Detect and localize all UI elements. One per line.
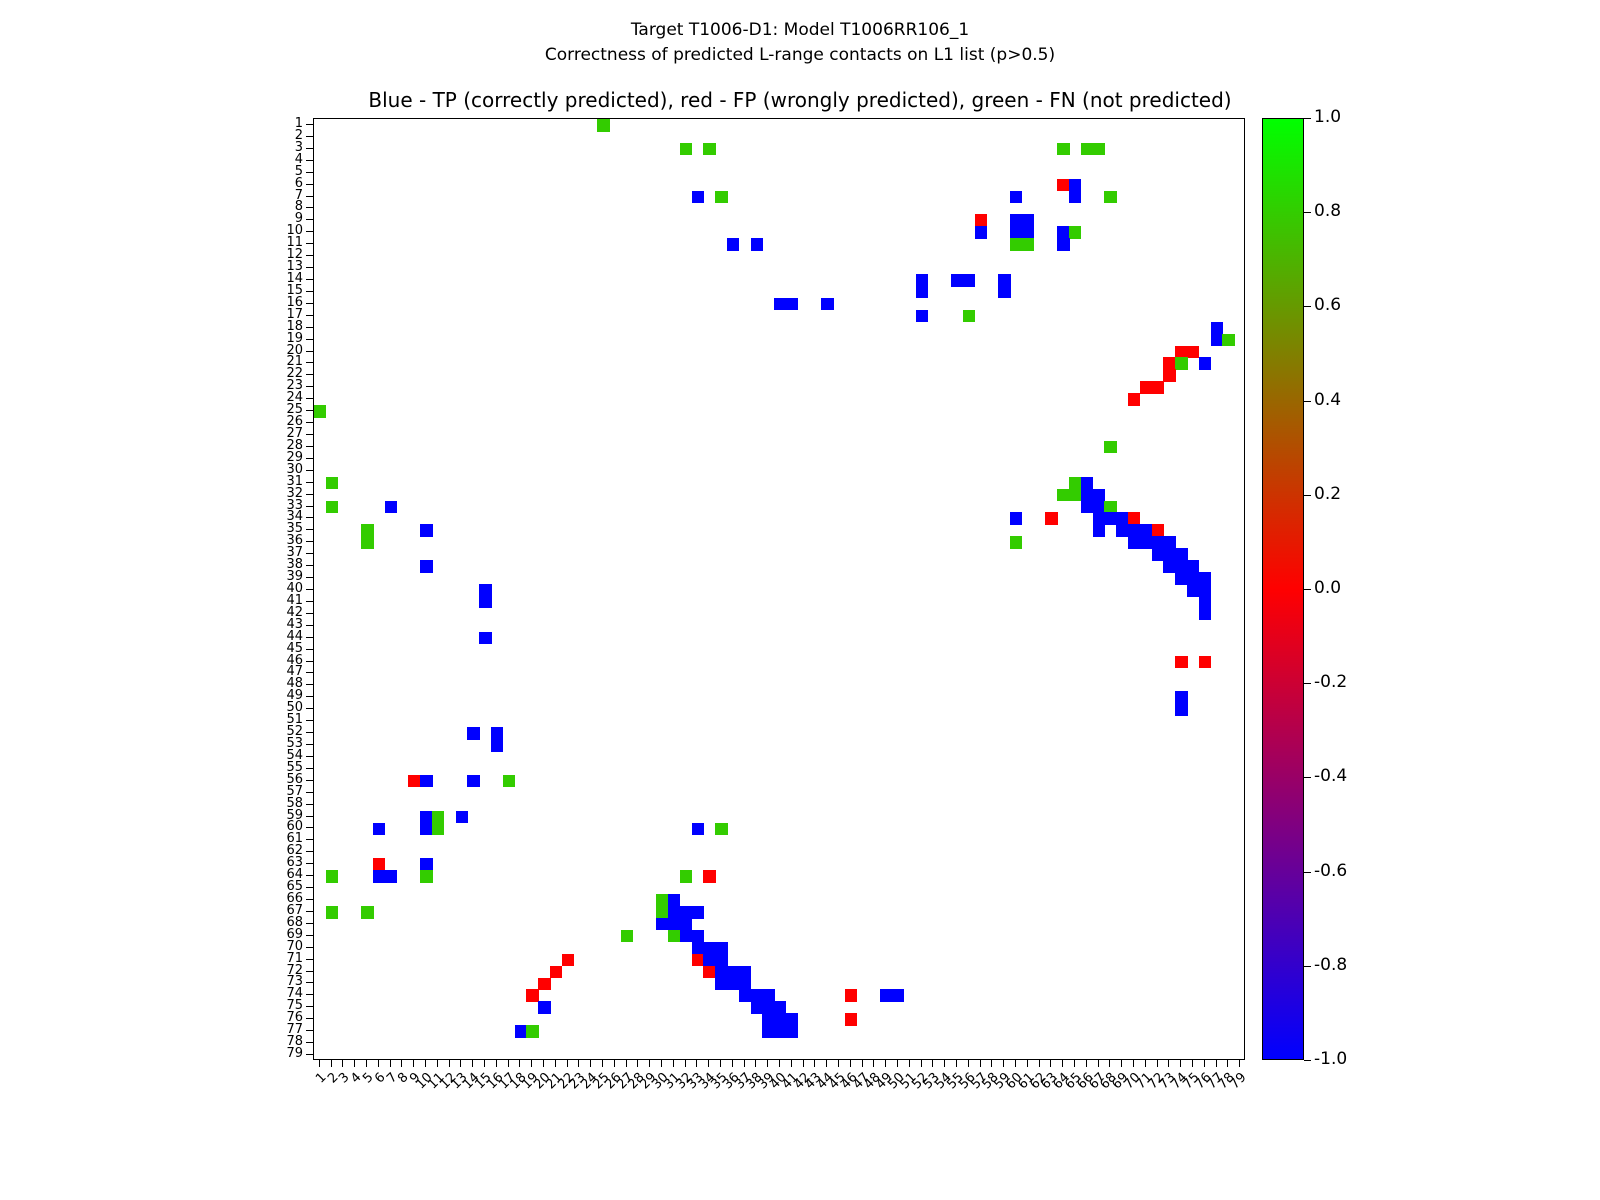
heatmap-cell <box>1152 536 1164 549</box>
heatmap-cell <box>420 811 432 824</box>
x-axis-tick <box>449 1060 450 1067</box>
heatmap-cell <box>597 119 609 132</box>
heatmap-cell <box>1093 524 1105 537</box>
y-axis-tick <box>306 315 313 316</box>
y-axis-tick <box>306 994 313 995</box>
heatmap-cell <box>762 989 774 1002</box>
heatmap-cell <box>420 524 432 537</box>
colorbar-tick-label: -0.2 <box>1314 672 1347 692</box>
heatmap-cell <box>1022 214 1034 227</box>
heatmap-cell <box>361 524 373 537</box>
heatmap-cell <box>1093 143 1105 156</box>
heatmap-cell <box>1163 560 1175 573</box>
heatmap-cell <box>727 978 739 991</box>
colorbar-tick <box>1304 118 1311 119</box>
heatmap-cell <box>1128 536 1140 549</box>
y-axis-tick <box>306 374 313 375</box>
y-axis-tick <box>306 684 313 685</box>
heatmap-cell <box>1187 584 1199 597</box>
colorbar-minor-ticks <box>1246 118 1256 1060</box>
y-axis-tick <box>306 982 313 983</box>
heatmap-cell <box>1211 334 1223 347</box>
heatmap-cell <box>408 775 420 788</box>
y-axis-tick <box>306 303 313 304</box>
heatmap-cell <box>1116 512 1128 525</box>
heatmap-cell <box>739 966 751 979</box>
colorbar-tick <box>1304 777 1311 778</box>
heatmap-cell <box>491 739 503 752</box>
y-axis-tick <box>306 327 313 328</box>
x-axis-tick <box>779 1060 780 1067</box>
heatmap-cell <box>692 906 704 919</box>
x-axis-tick <box>673 1060 674 1067</box>
heatmap-cell <box>432 811 444 824</box>
heatmap-cell <box>1199 608 1211 621</box>
colorbar-tick-label: 0.4 <box>1314 390 1341 410</box>
heatmap-cell <box>550 966 562 979</box>
x-axis-tick <box>1003 1060 1004 1067</box>
x-axis-tick <box>1204 1060 1205 1067</box>
y-axis-tick <box>306 911 313 912</box>
y-axis-tick <box>306 291 313 292</box>
y-axis-tick <box>306 362 313 363</box>
colorbar-tick <box>1304 212 1311 213</box>
y-axis-tick <box>306 1018 313 1019</box>
y-axis-tick <box>306 720 313 721</box>
x-axis-tick <box>1168 1060 1169 1067</box>
heatmap-cell <box>774 1025 786 1038</box>
y-axis-tick <box>306 756 313 757</box>
heatmap-cell <box>1010 226 1022 239</box>
y-axis-tick <box>306 649 313 650</box>
y-axis-tick <box>306 899 313 900</box>
heatmap-cell <box>1175 691 1187 704</box>
x-axis-tick <box>1216 1060 1217 1067</box>
heatmap-cell <box>998 274 1010 287</box>
x-axis-tick <box>767 1060 768 1067</box>
y-axis-tick <box>306 816 313 817</box>
heatmap-cell <box>373 858 385 871</box>
heatmap-cell <box>751 238 763 251</box>
y-axis-tick <box>306 255 313 256</box>
heatmap-cell <box>1116 524 1128 537</box>
x-axis-tick <box>732 1060 733 1067</box>
heatmap-cell <box>880 989 892 1002</box>
heatmap-cell <box>420 858 432 871</box>
heatmap-cell <box>373 823 385 836</box>
y-axis-tick <box>306 279 313 280</box>
heatmap-cell <box>1199 596 1211 609</box>
heatmap-cell <box>703 143 715 156</box>
heatmap-cell <box>373 870 385 883</box>
heatmap-cell <box>1152 524 1164 537</box>
y-axis-tick <box>306 565 313 566</box>
heatmap-cell <box>668 906 680 919</box>
x-axis-tick <box>814 1060 815 1067</box>
x-axis-tick <box>1086 1060 1087 1067</box>
heatmap-cell <box>668 894 680 907</box>
heatmap-cell <box>703 870 715 883</box>
heatmap-cell <box>1010 238 1022 251</box>
y-axis-tick <box>306 136 313 137</box>
y-axis-tick <box>306 494 313 495</box>
y-axis-tick <box>306 959 313 960</box>
heatmap-cell <box>1022 226 1034 239</box>
x-axis-tick <box>1180 1060 1181 1067</box>
x-axis-tick <box>1133 1060 1134 1067</box>
colorbar-tick <box>1304 966 1311 967</box>
heatmap-cell <box>503 775 515 788</box>
heatmap-cell <box>692 191 704 204</box>
x-axis-tick <box>342 1060 343 1067</box>
heatmap-cell <box>1175 560 1187 573</box>
heatmap-cell <box>751 1001 763 1014</box>
heatmap-cell <box>786 298 798 311</box>
heatmap-cell <box>1152 381 1164 394</box>
y-axis-tick <box>306 470 313 471</box>
heatmap-cell <box>1057 179 1069 192</box>
heatmap-cell <box>1187 346 1199 359</box>
colorbar-tick <box>1304 683 1311 684</box>
heatmap-cell <box>420 775 432 788</box>
x-axis-tick <box>1039 1060 1040 1067</box>
y-axis-tick <box>306 672 313 673</box>
heatmap-cell <box>1069 191 1081 204</box>
heatmap-cell <box>739 978 751 991</box>
colorbar-tick <box>1304 495 1311 496</box>
y-axis-tick <box>306 696 313 697</box>
heatmap-cell <box>1069 179 1081 192</box>
heatmap-cell <box>1128 524 1140 537</box>
contact-map-plot-area <box>313 118 1245 1060</box>
y-axis-tick <box>306 637 313 638</box>
x-axis-tick <box>413 1060 414 1067</box>
heatmap-cell <box>692 823 704 836</box>
y-axis-tick <box>306 1054 313 1055</box>
x-axis-tick <box>1074 1060 1075 1067</box>
heatmap-cell <box>314 405 326 418</box>
y-axis-tick <box>306 923 313 924</box>
heatmap-cell <box>1104 512 1116 525</box>
y-axis-tick <box>306 148 313 149</box>
x-axis-tick <box>602 1060 603 1067</box>
x-axis-tick <box>897 1060 898 1067</box>
heatmap-cell <box>1081 143 1093 156</box>
heatmap-cell <box>326 870 338 883</box>
heatmap-cell <box>1152 548 1164 561</box>
heatmap-cell <box>680 918 692 931</box>
colorbar-tick <box>1304 306 1311 307</box>
heatmap-cell <box>621 930 633 943</box>
heatmap-cell <box>326 501 338 514</box>
colorbar-tick-label: -1.0 <box>1314 1049 1347 1069</box>
heatmap-cell <box>1128 512 1140 525</box>
heatmap-cell <box>1093 489 1105 502</box>
heatmap-cell <box>420 870 432 883</box>
x-axis-tick <box>390 1060 391 1067</box>
y-axis-tick <box>306 851 313 852</box>
x-axis-tick <box>578 1060 579 1067</box>
colorbar-tick-label: -0.8 <box>1314 955 1347 975</box>
x-axis-tick <box>354 1060 355 1067</box>
heatmap-cell <box>479 596 491 609</box>
heatmap-cell <box>892 989 904 1002</box>
y-axis-tick <box>306 780 313 781</box>
heatmap-cell <box>963 274 975 287</box>
x-axis-tick <box>850 1060 851 1067</box>
heatmap-cell <box>361 906 373 919</box>
contact-map-figure: Target T1006-D1: Model T1006RR106_1 Corr… <box>0 0 1600 1200</box>
heatmap-cell <box>703 954 715 967</box>
heatmap-cell <box>821 298 833 311</box>
heatmap-cell <box>1199 656 1211 669</box>
x-axis-tick <box>637 1060 638 1067</box>
y-axis-tick <box>306 863 313 864</box>
colorbar-tick <box>1304 1060 1311 1061</box>
heatmap-cell <box>715 191 727 204</box>
heatmap-cell <box>1010 191 1022 204</box>
heatmap-cell <box>1022 238 1034 251</box>
figure-title-line-1: Target T1006-D1: Model T1006RR106_1 <box>0 18 1600 43</box>
heatmap-cell <box>1175 572 1187 585</box>
y-axis-tick <box>306 589 313 590</box>
heatmap-cell <box>975 214 987 227</box>
x-axis-tick <box>401 1060 402 1067</box>
x-axis-tick <box>755 1060 756 1067</box>
heatmap-cell <box>467 727 479 740</box>
colorbar-tick <box>1304 872 1311 873</box>
heatmap-cell <box>975 226 987 239</box>
x-axis-tick <box>909 1060 910 1067</box>
heatmap-cell <box>845 989 857 1002</box>
x-axis-tick <box>1109 1060 1110 1067</box>
x-axis-tick <box>720 1060 721 1067</box>
x-axis-tick <box>980 1060 981 1067</box>
x-axis-tick <box>873 1060 874 1067</box>
heatmap-cell <box>762 1013 774 1026</box>
heatmap-cell <box>1069 226 1081 239</box>
heatmap-cell <box>1081 489 1093 502</box>
heatmap-cell <box>715 954 727 967</box>
x-axis-tick <box>838 1060 839 1067</box>
y-axis-tick <box>306 172 313 173</box>
heatmap-cell <box>1187 560 1199 573</box>
y-axis-tick <box>306 1042 313 1043</box>
y-axis-tick <box>306 1030 313 1031</box>
heatmap-cell <box>715 966 727 979</box>
figure-title-block: Target T1006-D1: Model T1006RR106_1 Corr… <box>0 18 1600 68</box>
x-axis-tick <box>519 1060 520 1067</box>
y-axis-tick <box>306 827 313 828</box>
heatmap-cell <box>420 823 432 836</box>
colorbar-tick-label: -0.4 <box>1314 766 1347 786</box>
y-axis-tick <box>306 243 313 244</box>
x-axis-tick <box>531 1060 532 1067</box>
heatmap-cell <box>1175 357 1187 370</box>
x-axis-tick <box>472 1060 473 1067</box>
heatmap-cell <box>1175 346 1187 359</box>
y-axis-tick <box>306 875 313 876</box>
heatmap-cell <box>1199 357 1211 370</box>
y-axis-tick <box>306 744 313 745</box>
x-axis-tick <box>366 1060 367 1067</box>
y-axis-tick <box>306 517 313 518</box>
heatmap-cell <box>680 143 692 156</box>
heatmap-cell <box>692 930 704 943</box>
x-axis-tick <box>437 1060 438 1067</box>
y-axis-tick <box>306 434 313 435</box>
x-axis-tick <box>1050 1060 1051 1067</box>
y-axis-tick <box>306 184 313 185</box>
x-axis-tick <box>885 1060 886 1067</box>
colorbar-tick-label: -0.6 <box>1314 861 1347 881</box>
heatmap-cell <box>467 775 479 788</box>
heatmap-cell <box>326 906 338 919</box>
heatmap-cell <box>1057 226 1069 239</box>
x-axis-tick <box>1227 1060 1228 1067</box>
heatmap-cell <box>1140 524 1152 537</box>
heatmap-cell <box>774 1013 786 1026</box>
x-axis-tick <box>1239 1060 1240 1067</box>
heatmap-cell <box>1187 572 1199 585</box>
x-axis-tick <box>567 1060 568 1067</box>
heatmap-cell <box>715 978 727 991</box>
x-axis-tick <box>460 1060 461 1067</box>
x-axis-tick <box>1098 1060 1099 1067</box>
heatmap-cell <box>739 989 751 1002</box>
x-axis-tick <box>555 1060 556 1067</box>
heatmap-cell <box>715 823 727 836</box>
heatmap-cell <box>1163 536 1175 549</box>
colorbar-tick-label: 0.2 <box>1314 484 1341 504</box>
y-axis-tick <box>306 196 313 197</box>
y-axis-tick <box>306 1006 313 1007</box>
y-axis-tick <box>306 398 313 399</box>
x-axis-tick <box>378 1060 379 1067</box>
heatmap-cell <box>491 727 503 740</box>
y-axis-tick <box>306 124 313 125</box>
x-axis-tick <box>614 1060 615 1067</box>
x-axis-tick <box>708 1060 709 1067</box>
heatmap-cell <box>515 1025 527 1038</box>
x-axis-tick <box>543 1060 544 1067</box>
heatmap-cell-layer <box>314 119 1244 1059</box>
colorbar <box>1262 118 1304 1060</box>
heatmap-cell <box>1163 357 1175 370</box>
x-axis-tick <box>956 1060 957 1067</box>
y-axis-tick <box>306 553 313 554</box>
heatmap-cell <box>998 286 1010 299</box>
x-axis-tick <box>1192 1060 1193 1067</box>
heatmap-cell <box>538 978 550 991</box>
x-axis-tick <box>1121 1060 1122 1067</box>
x-axis-tick <box>944 1060 945 1067</box>
y-axis-tick <box>306 267 313 268</box>
heatmap-cell <box>963 310 975 323</box>
x-axis-tick <box>1145 1060 1146 1067</box>
y-axis-tick <box>306 577 313 578</box>
heatmap-cell <box>361 536 373 549</box>
heatmap-cell <box>692 954 704 967</box>
x-axis-tick <box>319 1060 320 1067</box>
y-axis-tick <box>306 887 313 888</box>
heatmap-cell <box>692 942 704 955</box>
heatmap-cell <box>1199 584 1211 597</box>
heatmap-cell <box>1211 322 1223 335</box>
heatmap-cell <box>668 918 680 931</box>
heatmap-cell <box>727 966 739 979</box>
y-axis-tick <box>306 971 313 972</box>
heatmap-cell <box>1163 548 1175 561</box>
figure-title-line-2: Correctness of predicted L-range contact… <box>0 43 1600 68</box>
x-axis-tick <box>1027 1060 1028 1067</box>
heatmap-cell <box>703 966 715 979</box>
y-axis-tick <box>306 947 313 948</box>
heatmap-cell <box>680 906 692 919</box>
heatmap-cell <box>1010 536 1022 549</box>
heatmap-cell <box>1199 572 1211 585</box>
heatmap-cell <box>916 274 928 287</box>
x-axis-tick <box>803 1060 804 1067</box>
heatmap-cell <box>1093 501 1105 514</box>
y-axis-tick <box>306 351 313 352</box>
y-axis-tick <box>306 601 313 602</box>
x-axis-tick <box>696 1060 697 1067</box>
heatmap-cell <box>1104 441 1116 454</box>
heatmap-cell <box>1140 381 1152 394</box>
heatmap-cell <box>1069 477 1081 490</box>
x-axis-tick <box>921 1060 922 1067</box>
x-axis-tick <box>1015 1060 1016 1067</box>
x-axis-tick <box>991 1060 992 1067</box>
heatmap-cell <box>668 930 680 943</box>
heatmap-cell <box>951 274 963 287</box>
heatmap-cell <box>385 501 397 514</box>
heatmap-cell <box>432 823 444 836</box>
heatmap-cell <box>1081 477 1093 490</box>
heatmap-cell <box>1069 489 1081 502</box>
y-axis-tick <box>306 839 313 840</box>
x-axis-tick <box>685 1060 686 1067</box>
x-axis-tick <box>649 1060 650 1067</box>
heatmap-cell <box>1104 191 1116 204</box>
x-axis-tick <box>626 1060 627 1067</box>
y-axis-tick <box>306 422 313 423</box>
heatmap-cell <box>1057 489 1069 502</box>
heatmap-cell <box>703 942 715 955</box>
x-axis-tick <box>496 1060 497 1067</box>
heatmap-cell <box>1175 656 1187 669</box>
heatmap-cell <box>786 1025 798 1038</box>
heatmap-cell <box>727 238 739 251</box>
heatmap-cell <box>526 989 538 1002</box>
heatmap-cell <box>845 1013 857 1026</box>
heatmap-cell <box>1081 501 1093 514</box>
heatmap-cell <box>715 942 727 955</box>
heatmap-cell <box>656 906 668 919</box>
heatmap-cell <box>420 560 432 573</box>
x-axis-tick <box>968 1060 969 1067</box>
colorbar-tick-label: 1.0 <box>1314 107 1341 127</box>
x-axis-tick <box>932 1060 933 1067</box>
colorbar-tick-label: 0.8 <box>1314 201 1341 221</box>
heatmap-cell <box>774 298 786 311</box>
heatmap-cell <box>680 930 692 943</box>
x-axis-tick <box>590 1060 591 1067</box>
y-axis-tick <box>306 529 313 530</box>
heatmap-cell <box>1128 393 1140 406</box>
heatmap-cell <box>786 1013 798 1026</box>
